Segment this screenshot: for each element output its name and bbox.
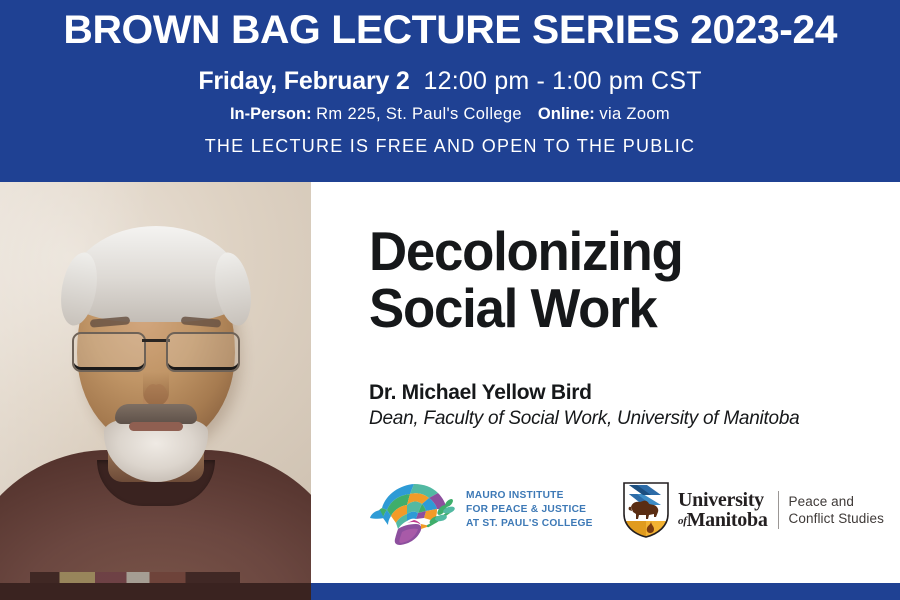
um-name-line2: ofManitoba [678, 510, 768, 530]
mauro-institute-logo: MAURO INSTITUTE FOR PEACE & JUSTICE AT S… [366, 474, 593, 546]
lecture-poster: BROWN BAG LECTURE SERIES 2023-24 Friday,… [0, 0, 900, 600]
um-divider [778, 491, 779, 529]
dove-with-olive-branch-icon [366, 474, 458, 546]
series-title: BROWN BAG LECTURE SERIES 2023-24 [63, 9, 837, 51]
poster-header-band: BROWN BAG LECTURE SERIES 2023-24 Friday,… [0, 0, 900, 182]
photo-lens-left [72, 332, 146, 372]
photo-nose [143, 372, 169, 406]
um-name-line1: University [678, 490, 768, 510]
speaker-name: Dr. Michael Yellow Bird [369, 381, 592, 405]
online-label: Online: [538, 105, 595, 123]
lecture-date: Friday, February 2 [198, 67, 409, 95]
bison-shield-icon [621, 481, 671, 539]
um-name: University ofManitoba [678, 490, 768, 531]
lecture-title: Decolonizing Social Work [369, 223, 683, 337]
free-admission-notice: THE LECTURE IS FREE AND OPEN TO THE PUBL… [205, 136, 696, 157]
photo-mustache [115, 404, 197, 424]
venue-line: In-Person: Rm 225, St. Paul's CollegeOnl… [230, 105, 670, 123]
date-time-line: Friday, February 2 12:00 pm - 1:00 pm CS… [198, 68, 701, 96]
photo-bottom-strip [0, 583, 311, 600]
um-name-manitoba: Manitoba [687, 509, 768, 531]
speaker-photo [0, 182, 311, 600]
logo-row: MAURO INSTITUTE FOR PEACE & JUSTICE AT S… [366, 474, 886, 550]
photo-eyeglasses [72, 328, 240, 370]
photo-mouth [129, 422, 183, 431]
in-person-value: Rm 225, St. Paul's College [316, 105, 522, 123]
um-unit-name: Peace and Conflict Studies [789, 493, 884, 528]
um-wordmark: University ofManitoba Peace and Conflict… [678, 490, 884, 531]
um-name-of: of [678, 515, 687, 527]
university-of-manitoba-logo: University ofManitoba Peace and Conflict… [621, 481, 884, 539]
poster-footer-band [311, 583, 900, 600]
online-value: via Zoom [599, 105, 670, 123]
speaker-role: Dean, Faculty of Social Work, University… [369, 408, 800, 430]
photo-lens-right [166, 332, 240, 372]
poster-content-panel: Decolonizing Social Work Dr. Michael Yel… [311, 182, 900, 583]
mauro-institute-name: MAURO INSTITUTE FOR PEACE & JUSTICE AT S… [466, 489, 593, 531]
lecture-time: 12:00 pm - 1:00 pm CST [424, 67, 702, 95]
in-person-label: In-Person: [230, 105, 312, 123]
